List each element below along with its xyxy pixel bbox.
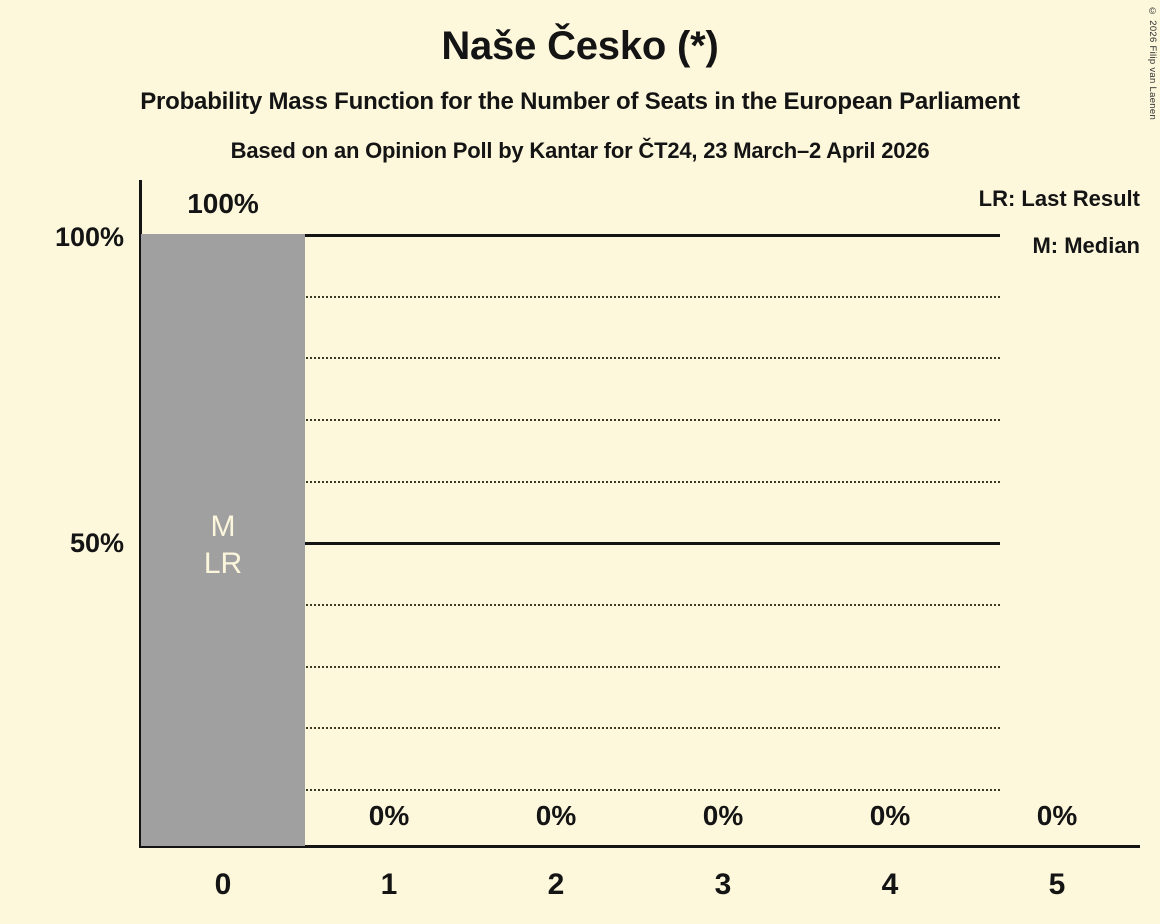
x-tick-label-1: 1	[307, 868, 471, 902]
x-tick-label-2: 2	[474, 868, 638, 902]
legend-last-result: LR: Last Result	[979, 186, 1140, 212]
bar-value-3: 0%	[641, 800, 805, 832]
bar-value-4: 0%	[808, 800, 972, 832]
x-tick-label-4: 4	[808, 868, 972, 902]
y-tick-label-100: 100%	[0, 222, 124, 253]
bar-0[interactable]: M LR	[141, 234, 305, 846]
y-tick-label-50: 50%	[0, 528, 124, 559]
chart-subtitle: Probability Mass Function for the Number…	[0, 86, 1160, 118]
bar-0-median-marker: M	[141, 508, 305, 545]
bar-value-1: 0%	[307, 800, 471, 832]
copyright-notice: © 2026 Filip van Laenen	[1147, 6, 1158, 120]
x-tick-label-3: 3	[641, 868, 805, 902]
legend-median: M: Median	[1032, 233, 1140, 259]
bar-value-2: 0%	[474, 800, 638, 832]
chart-source-note: Based on an Opinion Poll by Kantar for Č…	[0, 136, 1160, 166]
bar-value-0: 100%	[141, 188, 305, 220]
x-tick-label-5: 5	[975, 868, 1139, 902]
page-title: Naše Česko (*)	[0, 22, 1160, 70]
x-tick-label-0: 0	[141, 868, 305, 902]
bar-value-5: 0%	[975, 800, 1139, 832]
bar-0-last-result-marker: LR	[141, 545, 305, 582]
chart-page: Naše Česko (*) Probability Mass Function…	[0, 0, 1160, 924]
